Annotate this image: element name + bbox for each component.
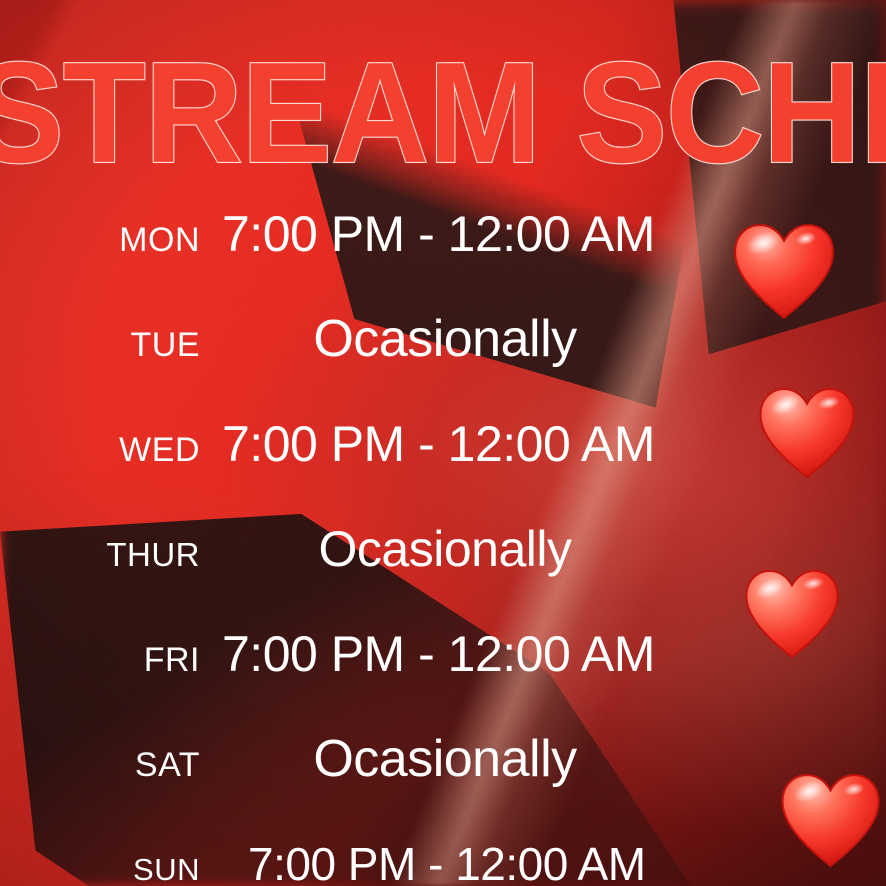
schedule-row-sat: SAT Ocasionally: [0, 707, 720, 812]
day-value-mon: 7:00 PM - 12:00 AM: [200, 182, 720, 287]
day-value-wed: 7:00 PM - 12:00 AM: [200, 392, 720, 497]
schedule-row-tue: TUE Ocasionally: [0, 287, 720, 392]
heart-icon: [757, 386, 857, 481]
day-value-thur: Ocasionally: [200, 497, 720, 602]
day-value-sat: Ocasionally: [200, 707, 720, 812]
stream-schedule-poster: STREAM SCHEDULE MON 7:00 PM - 12:00 AM T…: [0, 0, 886, 886]
schedule-row-wed: WED 7:00 PM - 12:00 AM: [0, 392, 720, 497]
day-value-fri: 7:00 PM - 12:00 AM: [200, 602, 720, 707]
schedule-list: MON 7:00 PM - 12:00 AM TUE Ocasionally W…: [0, 182, 720, 886]
day-value-sun: 7:00 PM - 12:00 AM: [200, 812, 720, 886]
page-title: STREAM SCHEDULE: [0, 42, 886, 185]
schedule-row-sun: SUN 7:00 PM - 12:00 AM: [0, 812, 720, 886]
schedule-row-thur: THUR Ocasionally: [0, 497, 720, 602]
day-label-sat: SAT: [0, 713, 200, 818]
day-label-thur: THUR: [0, 502, 200, 607]
schedule-row-fri: FRI 7:00 PM - 12:00 AM: [0, 602, 720, 707]
heart-icon: [731, 222, 837, 322]
day-label-sun: SUN: [0, 817, 200, 886]
day-label-wed: WED: [0, 398, 200, 503]
heart-icon: [743, 568, 841, 661]
schedule-row-mon: MON 7:00 PM - 12:00 AM: [0, 182, 720, 287]
day-label-mon: MON: [0, 188, 200, 293]
day-value-tue: Ocasionally: [200, 287, 720, 392]
heart-icon: [779, 772, 882, 870]
day-label-tue: TUE: [0, 293, 200, 398]
day-label-fri: FRI: [0, 608, 200, 713]
